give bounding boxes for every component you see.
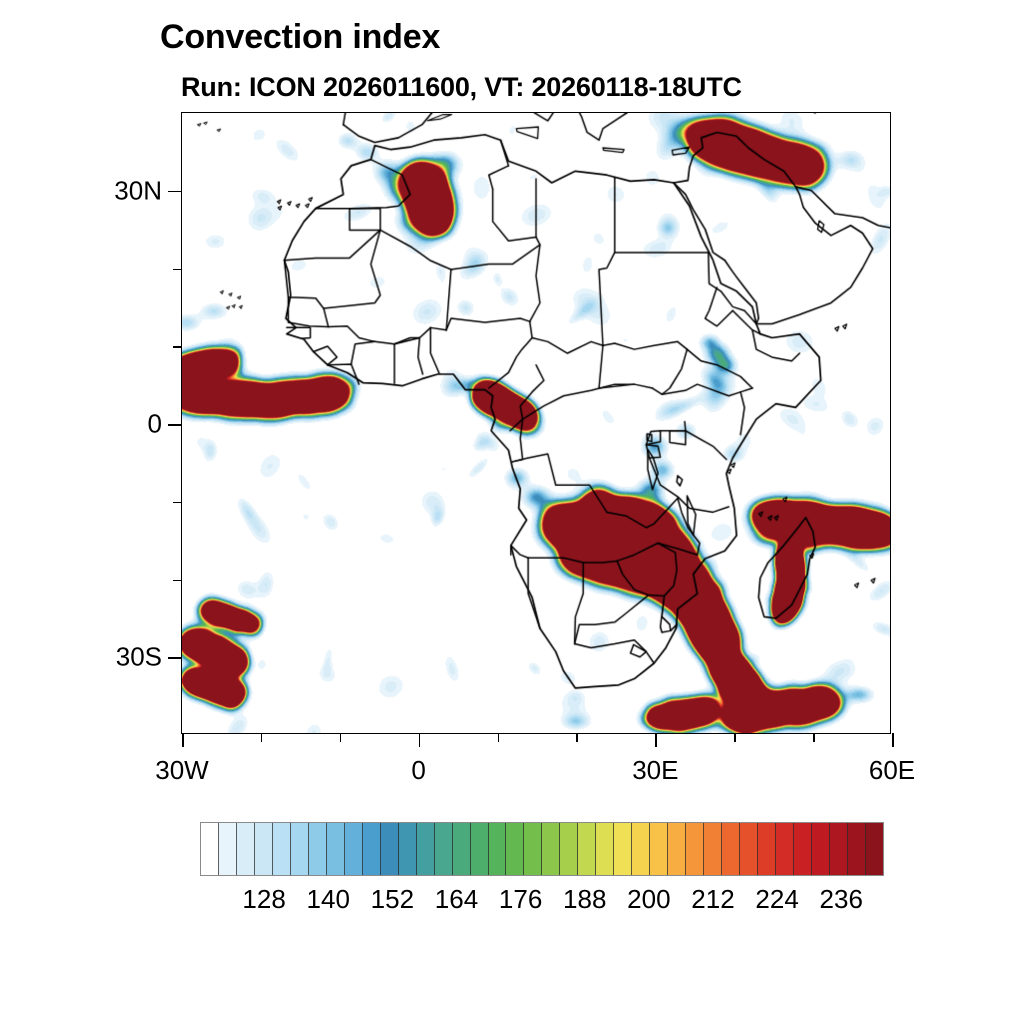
x-tick-minor <box>813 733 814 742</box>
colorbar-cell <box>471 823 489 875</box>
y-tick-major <box>168 657 182 659</box>
x-tick-minor <box>498 733 499 742</box>
colorbar <box>200 822 884 876</box>
colorbar-cell <box>758 823 776 875</box>
map-plot-area: 30N030S30W030E60E <box>181 112 891 734</box>
x-axis-label: 30W <box>155 755 208 786</box>
colorbar-cell <box>830 823 848 875</box>
colorbar-cell <box>381 823 399 875</box>
x-tick-major <box>182 733 184 747</box>
colorbar-cell <box>542 823 560 875</box>
colorbar-cell <box>219 823 237 875</box>
colorbar-tick-label: 164 <box>435 884 478 915</box>
x-tick-minor <box>261 733 262 742</box>
y-axis-label: 30S <box>116 642 162 673</box>
x-tick-minor <box>340 733 341 742</box>
y-tick-minor <box>173 346 182 347</box>
colorbar-cell <box>435 823 453 875</box>
colorbar-tick-label: 128 <box>242 884 285 915</box>
colorbar-cell <box>596 823 614 875</box>
page-title: Convection index <box>160 18 440 57</box>
x-tick-major <box>892 733 894 747</box>
colorbar-cell <box>201 823 219 875</box>
colorbar-cell <box>668 823 686 875</box>
y-axis-label: 0 <box>148 409 162 440</box>
colorbar-cell <box>453 823 471 875</box>
colorbar-cell <box>812 823 830 875</box>
colorbar-cell <box>237 823 255 875</box>
colorbar-cell <box>632 823 650 875</box>
colorbar-cell <box>776 823 794 875</box>
run-info-title: Run: ICON 2026011600, VT: 20260118-18UTC <box>181 72 742 103</box>
colorbar-tick-label: 188 <box>563 884 606 915</box>
colorbar-cell <box>722 823 740 875</box>
y-tick-major <box>168 424 182 426</box>
y-axis-label: 30N <box>114 175 162 206</box>
x-tick-major <box>655 733 657 747</box>
colorbar-cell <box>866 823 883 875</box>
colorbar-cell <box>740 823 758 875</box>
x-axis-label: 60E <box>869 755 915 786</box>
colorbar-cell <box>489 823 507 875</box>
y-tick-major <box>168 191 182 193</box>
colorbar-tick-label: 224 <box>755 884 798 915</box>
colorbar-cell <box>291 823 309 875</box>
colorbar-tick-label: 212 <box>691 884 734 915</box>
colorbar-cell <box>309 823 327 875</box>
x-tick-major <box>419 733 421 747</box>
colorbar-cell <box>794 823 812 875</box>
colorbar-cell <box>506 823 524 875</box>
colorbar-cell <box>560 823 578 875</box>
colorbar-cell <box>273 823 291 875</box>
convection-index-map <box>182 113 890 733</box>
colorbar-cell <box>327 823 345 875</box>
colorbar-cell <box>848 823 866 875</box>
colorbar-cell <box>686 823 704 875</box>
colorbar-cell <box>417 823 435 875</box>
colorbar-cell <box>578 823 596 875</box>
y-tick-minor <box>173 580 182 581</box>
colorbar-cell <box>614 823 632 875</box>
colorbar-cell <box>650 823 668 875</box>
x-tick-minor <box>734 733 735 742</box>
colorbar-tick-label: 236 <box>820 884 863 915</box>
colorbar-cell <box>399 823 417 875</box>
colorbar-tick-label: 152 <box>371 884 414 915</box>
x-axis-label: 30E <box>632 755 678 786</box>
colorbar-tick-labels: 128140152164176188200212224236 <box>200 884 884 918</box>
y-tick-minor <box>173 269 182 270</box>
y-tick-minor <box>173 502 182 503</box>
x-tick-minor <box>576 733 577 742</box>
colorbar-cell <box>363 823 381 875</box>
colorbar-tick-label: 140 <box>307 884 350 915</box>
colorbar-tick-label: 200 <box>627 884 670 915</box>
colorbar-cell <box>345 823 363 875</box>
colorbar-cell <box>704 823 722 875</box>
colorbar-cells <box>200 822 884 876</box>
x-axis-label: 0 <box>411 755 425 786</box>
colorbar-cell <box>255 823 273 875</box>
colorbar-tick-label: 176 <box>499 884 542 915</box>
colorbar-cell <box>524 823 542 875</box>
